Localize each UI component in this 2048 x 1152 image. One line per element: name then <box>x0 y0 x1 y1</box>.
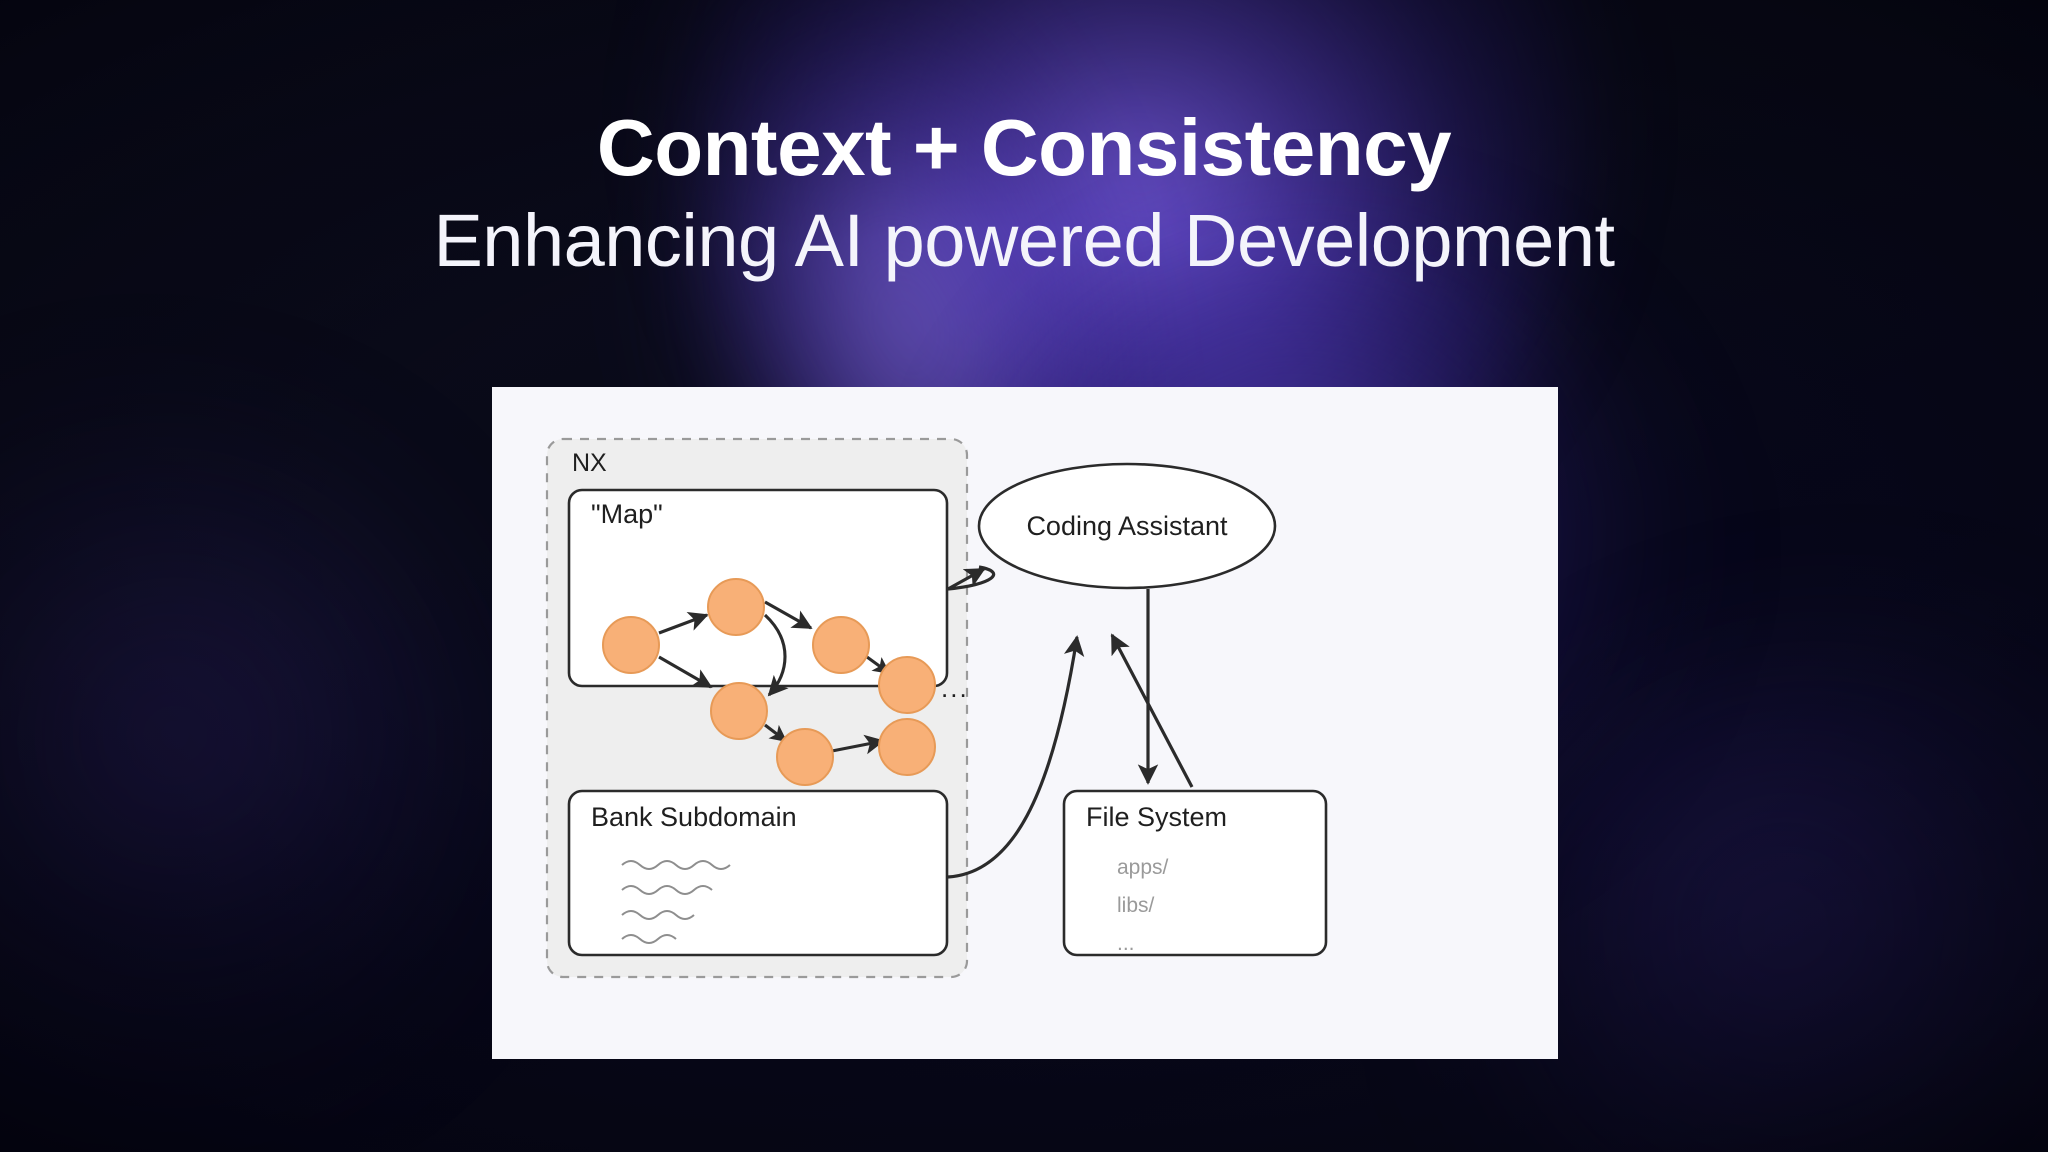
graph-node <box>879 657 935 713</box>
nx-group-label: NX <box>572 449 607 477</box>
graph-ellipsis-label: ... <box>941 673 969 703</box>
graph-node <box>603 617 659 673</box>
file-system-item: libs/ <box>1117 894 1155 917</box>
bank-subdomain-box[interactable]: Bank Subdomain <box>569 791 947 955</box>
graph-node <box>777 729 833 785</box>
coding-assistant-label: Coding Assistant <box>1026 511 1228 541</box>
file-system-label: File System <box>1086 802 1227 832</box>
file-system-item: apps/ <box>1117 856 1169 879</box>
map-box-label: "Map" <box>591 499 663 529</box>
connector-filesystem-to-assistant <box>1112 635 1192 787</box>
diagram-panel: NX "Map" <box>492 387 1558 1059</box>
file-system-item: ... <box>1117 932 1135 955</box>
graph-node <box>813 617 869 673</box>
slide-title: Context + Consistency <box>0 108 2048 188</box>
slide-subtitle: Enhancing AI powered Development <box>0 202 2048 280</box>
coding-assistant-ellipse[interactable]: Coding Assistant <box>979 464 1275 588</box>
file-system-box[interactable]: File System apps/ libs/ ... <box>1064 791 1326 955</box>
graph-node <box>711 683 767 739</box>
slide-root: Context + Consistency Enhancing AI power… <box>0 0 2048 1152</box>
graph-node <box>708 579 764 635</box>
bank-subdomain-label: Bank Subdomain <box>591 802 797 832</box>
graph-node <box>879 719 935 775</box>
title-block: Context + Consistency Enhancing AI power… <box>0 108 2048 280</box>
diagram-canvas: NX "Map" <box>492 387 1558 1059</box>
